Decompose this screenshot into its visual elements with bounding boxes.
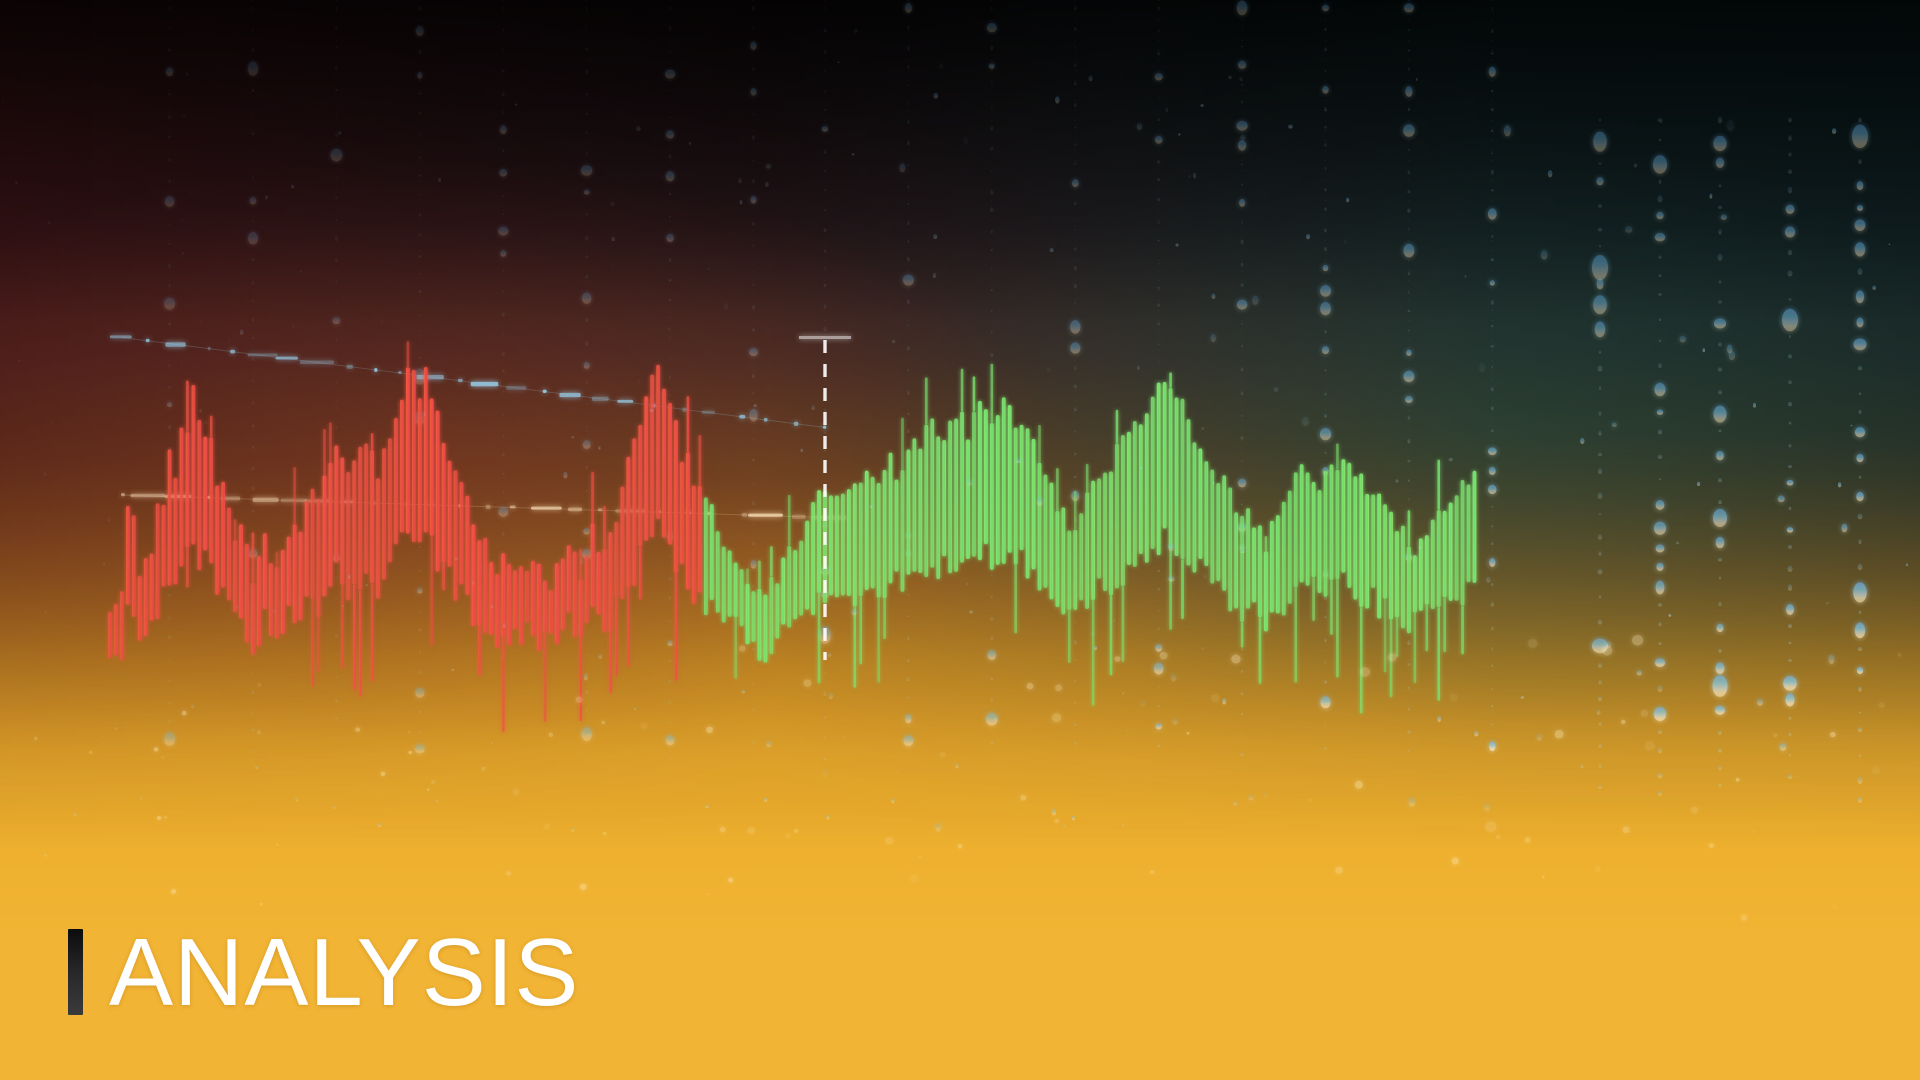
title-block: ANALYSIS	[68, 927, 579, 1018]
trendline-group	[110, 335, 846, 519]
bullish-bars	[704, 364, 1476, 714]
price-chart	[0, 0, 1920, 1080]
analysis-banner: ANALYSIS	[0, 0, 1920, 1080]
title-accent-bar	[68, 929, 83, 1015]
page-title: ANALYSIS	[109, 927, 579, 1018]
